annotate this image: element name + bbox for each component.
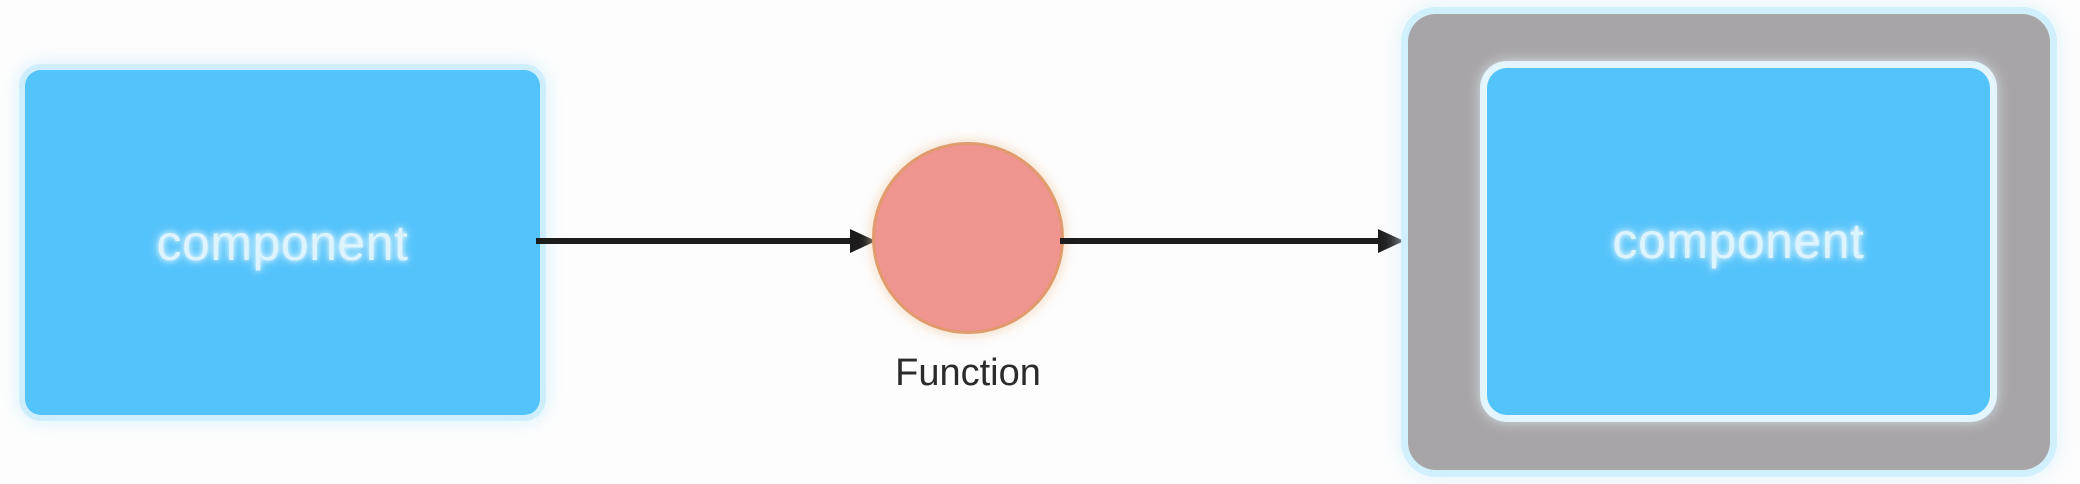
component-node-right[interactable]: component [1487,68,1990,415]
component-left-label: component [25,218,540,268]
component-right-label: component [1487,216,1990,266]
arrow-line [1060,238,1382,244]
arrow-head-icon [1378,229,1404,253]
function-label: Function [752,354,1184,392]
function-circle-icon [872,142,1064,334]
function-node[interactable]: Function [872,142,1064,334]
arrow-function-to-component[interactable] [1060,229,1404,253]
diagram-canvas: component Function component [0,0,2080,484]
arrow-component-to-function[interactable] [536,229,876,253]
arrow-line [536,238,854,244]
component-group-right[interactable]: component [1408,14,2050,470]
component-node-left[interactable]: component [25,70,540,415]
